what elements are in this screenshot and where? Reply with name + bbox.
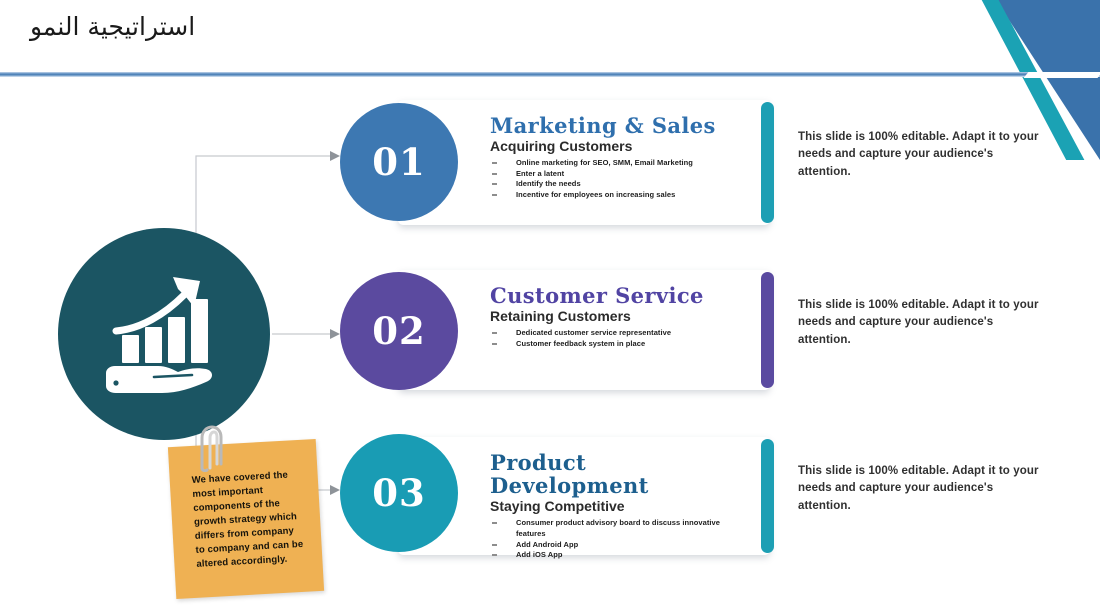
- step-description-3: This slide is 100% editable. Adapt it to…: [798, 463, 1048, 515]
- list-item: Identify the needs: [490, 179, 748, 190]
- step-number-circle-3[interactable]: 03: [340, 434, 458, 552]
- card-title-1: Marketing & Sales: [490, 114, 748, 137]
- slide-canvas: استراتيجية النمو: [0, 0, 1100, 616]
- card-accent-bar-3: [761, 439, 774, 553]
- step-number-circle-2[interactable]: 02: [340, 272, 458, 390]
- header-divider-rule: [0, 72, 1100, 77]
- page-title: استراتيجية النمو: [30, 12, 195, 41]
- slide-header: استراتيجية النمو: [0, 0, 1100, 74]
- step-number-circle-1[interactable]: 01: [340, 103, 458, 221]
- card-accent-bar-2: [761, 272, 774, 388]
- list-item: Incentive for employees on increasing sa…: [490, 190, 748, 201]
- growth-hand-chart-icon: [96, 269, 232, 399]
- hub-circle: [58, 228, 270, 440]
- corner-white-wedge: [1023, 72, 1100, 78]
- step-description-1: This slide is 100% editable. Adapt it to…: [798, 129, 1048, 181]
- list-item: Add Android App: [490, 540, 748, 551]
- card-subtitle-3: Staying Competitive: [490, 498, 748, 514]
- list-item: Consumer product advisory board to discu…: [490, 518, 748, 539]
- card-subtitle-1: Acquiring Customers: [490, 138, 748, 154]
- card-title-3: Product Development: [490, 451, 748, 497]
- sticky-note-text: We have covered the most important compo…: [191, 468, 304, 572]
- card-subtitle-2: Retaining Customers: [490, 308, 748, 324]
- list-item: Add iOS App: [490, 550, 748, 561]
- card-accent-bar-1: [761, 102, 774, 223]
- card-bullet-list-2: Dedicated customer service representativ…: [490, 328, 748, 349]
- card-body-3: Product Development Staying Competitive …: [490, 451, 748, 561]
- paperclip-icon: [186, 424, 226, 472]
- card-bullet-list-3: Consumer product advisory board to discu…: [490, 518, 748, 561]
- list-item: Customer feedback system in place: [490, 339, 748, 350]
- list-item: Dedicated customer service representativ…: [490, 328, 748, 339]
- card-bullet-list-1: Online marketing for SEO, SMM, Email Mar…: [490, 158, 748, 201]
- step-description-2: This slide is 100% editable. Adapt it to…: [798, 297, 1048, 349]
- card-body-2: Customer Service Retaining Customers Ded…: [490, 284, 748, 349]
- list-item: Online marketing for SEO, SMM, Email Mar…: [490, 158, 748, 169]
- card-title-2: Customer Service: [490, 284, 748, 307]
- list-item: Enter a latent: [490, 169, 748, 180]
- card-body-1: Marketing & Sales Acquiring Customers On…: [490, 114, 748, 201]
